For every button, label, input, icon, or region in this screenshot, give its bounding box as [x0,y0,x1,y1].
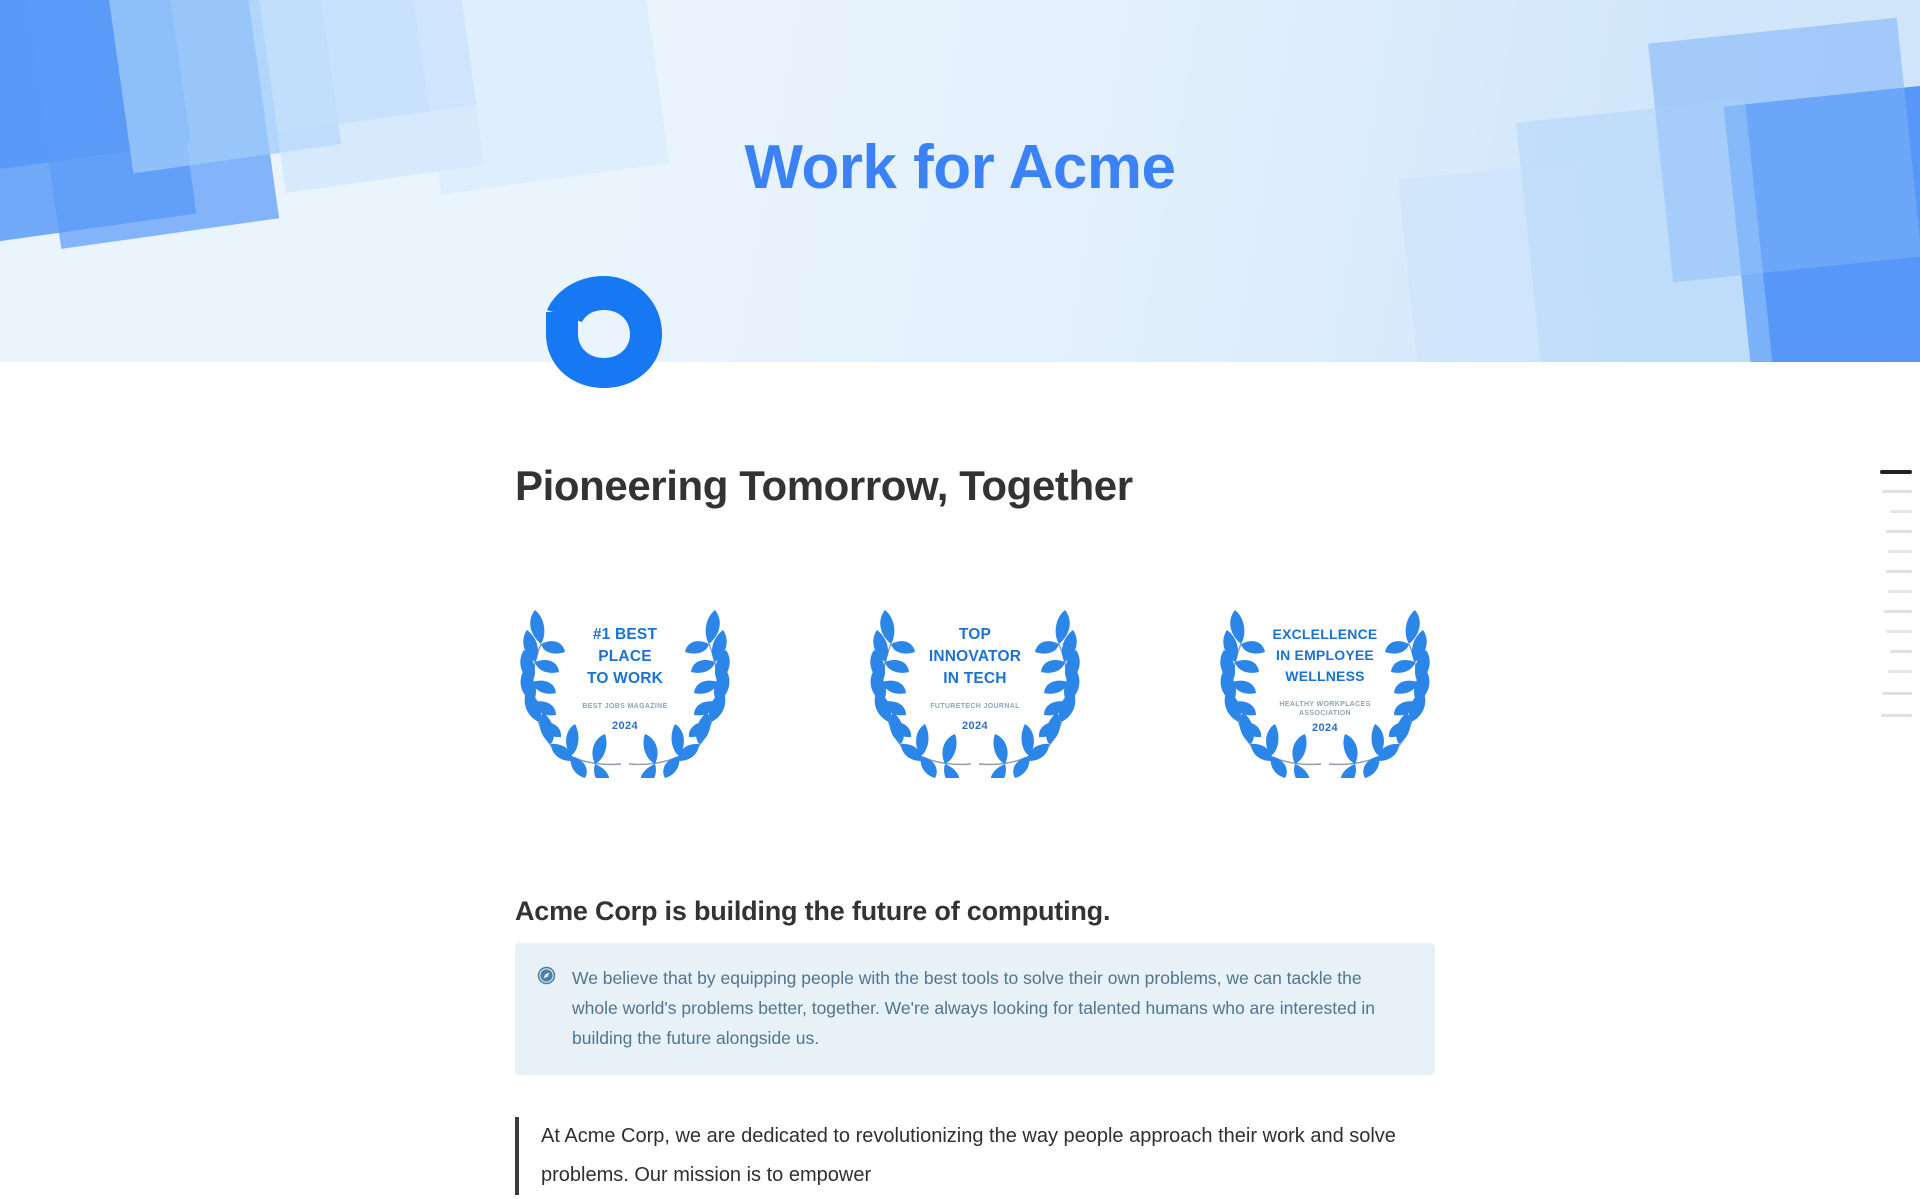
outline-row-bar [1884,610,1912,613]
award-title-line3: TO WORK [515,668,735,690]
blockquote-text: At Acme Corp, we are dedicated to revolu… [541,1117,1415,1195]
outline-row-bar [1882,692,1912,695]
award-title-line2: PLACE [515,646,735,668]
page-title: Pioneering Tomorrow, Together [515,462,1133,510]
hero-banner: Work for Acme [0,0,1920,362]
outline-row-bar [1888,550,1912,553]
outline-row[interactable] [1860,610,1920,613]
outline-row-bar [1881,714,1912,717]
award-badge: #1 BEST PLACE TO WORK BEST JOBS MAGAZINE… [515,598,735,778]
award-badge-title: #1 BEST PLACE TO WORK [515,624,735,690]
outline-row[interactable] [1860,550,1920,553]
award-title-line2: IN EMPLOYEE [1215,645,1435,666]
outline-row[interactable] [1860,670,1920,673]
award-badge-year: 2024 [865,720,1085,732]
award-title-line1: TOP [865,624,1085,646]
outline-row-bar [1880,470,1912,474]
outline-row-bar [1886,630,1912,633]
award-title-line1: EXCLELLENCE [1215,624,1435,645]
outline-row[interactable] [1860,530,1920,533]
outline-row[interactable] [1860,692,1920,695]
award-badge-title: EXCLELLENCE IN EMPLOYEE WELLNESS [1215,624,1435,687]
award-badge-year: 2024 [1215,722,1435,734]
outline-row[interactable] [1860,570,1920,573]
award-title-line3: WELLNESS [1215,666,1435,687]
award-title-line1: #1 BEST [515,624,735,646]
award-badge-source: FUTURETECH JOURNAL [865,702,1085,711]
award-badge-title: TOP INNOVATOR IN TECH [865,624,1085,690]
outline-row-bar [1886,570,1912,573]
award-badge: TOP INNOVATOR IN TECH FUTURETECH JOURNAL… [865,598,1085,778]
callout-box: We believe that by equipping people with… [515,943,1435,1075]
outline-row[interactable] [1860,470,1920,474]
outline-row-bar [1888,670,1912,673]
award-title-line2: INNOVATOR [865,646,1085,668]
blockquote: At Acme Corp, we are dedicated to revolu… [515,1117,1415,1195]
outline-row[interactable] [1860,590,1920,593]
compass-icon [537,966,556,990]
callout-text: We believe that by equipping people with… [572,963,1409,1053]
hero-title: Work for Acme [0,132,1920,203]
outline-row-bar [1890,650,1912,653]
outline-row-bar [1882,490,1912,493]
outline-row[interactable] [1860,490,1920,493]
outline-row-bar [1890,510,1912,513]
award-title-line3: IN TECH [865,668,1085,690]
outline-row[interactable] [1860,510,1920,513]
acme-spiral-logo-icon [534,272,674,392]
section-subtitle: Acme Corp is building the future of comp… [515,896,1110,927]
outline-row-bar [1886,530,1912,533]
outline-row[interactable] [1860,630,1920,633]
award-badge: EXCLELLENCE IN EMPLOYEE WELLNESS HEALTHY… [1215,598,1435,778]
award-badge-year: 2024 [515,720,735,732]
award-badge-source: HEALTHY WORKPLACES ASSOCIATION [1215,700,1435,718]
outline-row[interactable] [1860,714,1920,717]
award-badge-source: BEST JOBS MAGAZINE [515,702,735,711]
outline-row[interactable] [1860,650,1920,653]
outline-row-bar [1888,590,1912,593]
award-badge-list: #1 BEST PLACE TO WORK BEST JOBS MAGAZINE… [515,598,1435,778]
page-root: Work for Acme Pioneering Tomorrow, Toget… [0,0,1920,1199]
